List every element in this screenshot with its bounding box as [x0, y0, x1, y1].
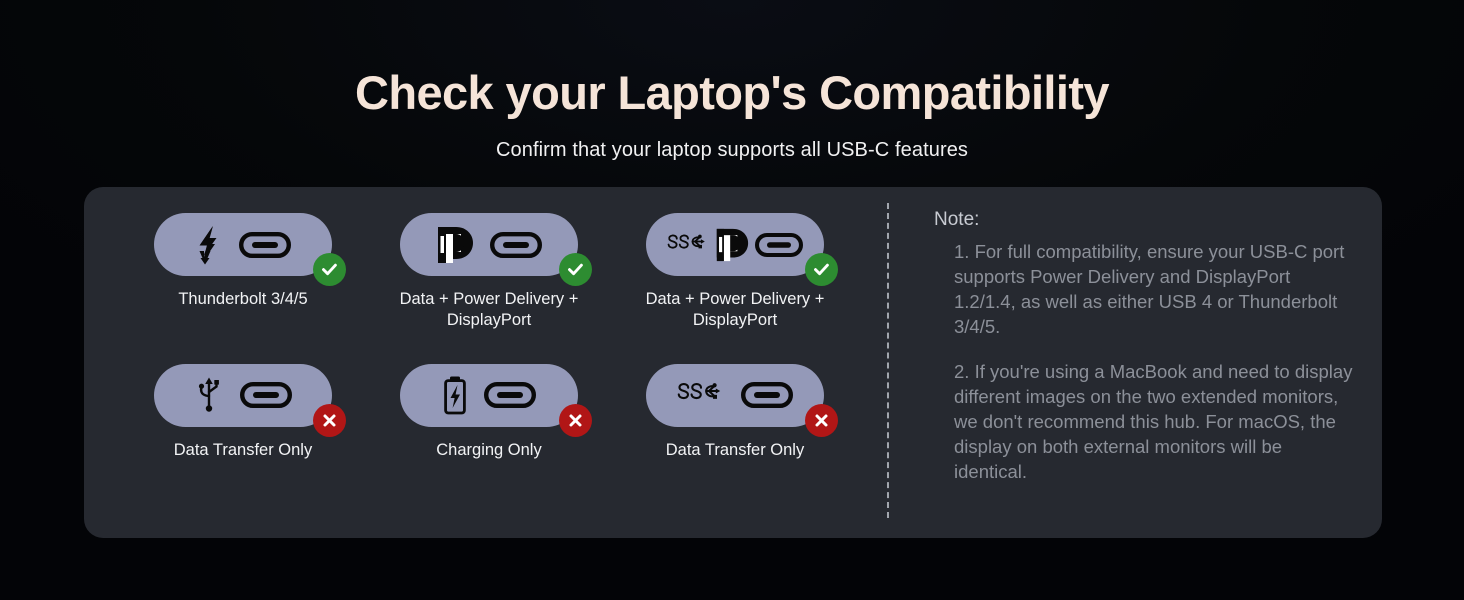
compatibility-grid-pane: Thunderbolt 3/4/5 [84, 187, 888, 538]
usb-c-port-icon [239, 232, 291, 258]
item-caption: Data + Power Delivery + DisplayPort [628, 289, 843, 332]
check-icon [320, 260, 339, 279]
note-paragraph-1: 1. For full compatibility, ensure your U… [934, 240, 1354, 340]
compatibility-card: Thunderbolt 3/4/5 [84, 187, 1382, 538]
status-badge-unsupported [313, 404, 346, 437]
cross-icon [812, 411, 831, 430]
status-badge-supported [805, 253, 838, 286]
icon-pill [154, 213, 332, 276]
check-icon [812, 260, 831, 279]
icon-pill [646, 213, 824, 276]
item-caption: Data Transfer Only [666, 440, 804, 461]
status-badge-unsupported [559, 404, 592, 437]
check-icon [566, 260, 585, 279]
item-caption: Data + Power Delivery + DisplayPort [382, 289, 597, 332]
icon-pill-wrapper [154, 364, 332, 427]
icon-pill [646, 364, 824, 427]
usb-c-port-icon [490, 232, 542, 258]
icon-pill [400, 213, 578, 276]
icon-pill-wrapper [400, 213, 578, 276]
icon-pill-wrapper [646, 364, 824, 427]
icon-pill-wrapper [400, 364, 578, 427]
item-caption: Thunderbolt 3/4/5 [178, 289, 307, 310]
battery-charging-icon [442, 375, 468, 415]
item-caption: Data Transfer Only [174, 440, 312, 461]
page-subtitle: Confirm that your laptop supports all US… [0, 139, 1464, 162]
displayport-icon [715, 227, 749, 263]
icon-pill [154, 364, 332, 427]
vertical-dashed-divider [887, 203, 889, 518]
item-caption: Charging Only [436, 440, 541, 461]
compatibility-grid: Thunderbolt 3/4/5 [84, 213, 888, 461]
page-title: Check your Laptop's Compatibility [0, 68, 1464, 119]
note-heading: Note: [934, 209, 1354, 231]
usb-c-port-icon [755, 233, 803, 257]
usb-c-port-icon [484, 382, 536, 408]
superspeed-usb-icon [667, 232, 709, 258]
icon-pill [400, 364, 578, 427]
icon-pill-wrapper [154, 213, 332, 276]
compatibility-item-thunderbolt: Thunderbolt 3/4/5 [120, 213, 366, 332]
superspeed-usb-icon [677, 381, 725, 409]
compatibility-item-superspeed-displayport: Data + Power Delivery + DisplayPort [612, 213, 858, 332]
note-paragraph-2: 2. If you're using a MacBook and need to… [934, 360, 1354, 485]
displayport-icon [436, 225, 474, 265]
header: Check your Laptop's Compatibility Confir… [0, 0, 1464, 162]
status-badge-unsupported [805, 404, 838, 437]
compatibility-item-data-only-superspeed: Data Transfer Only [612, 364, 858, 461]
note-pane: Note: 1. For full compatibility, ensure … [888, 187, 1382, 538]
thunderbolt-icon [195, 225, 223, 265]
icon-pill-wrapper [646, 213, 824, 276]
cross-icon [566, 411, 585, 430]
compatibility-infographic: Check your Laptop's Compatibility Confir… [0, 0, 1464, 600]
status-badge-supported [313, 253, 346, 286]
usb-c-port-icon [741, 382, 793, 408]
compatibility-item-displayport: Data + Power Delivery + DisplayPort [366, 213, 612, 332]
usb-c-port-icon [240, 382, 292, 408]
cross-icon [320, 411, 339, 430]
usb-trident-icon [194, 376, 224, 414]
compatibility-item-charging-only: Charging Only [366, 364, 612, 461]
compatibility-item-data-only-usb: Data Transfer Only [120, 364, 366, 461]
status-badge-supported [559, 253, 592, 286]
